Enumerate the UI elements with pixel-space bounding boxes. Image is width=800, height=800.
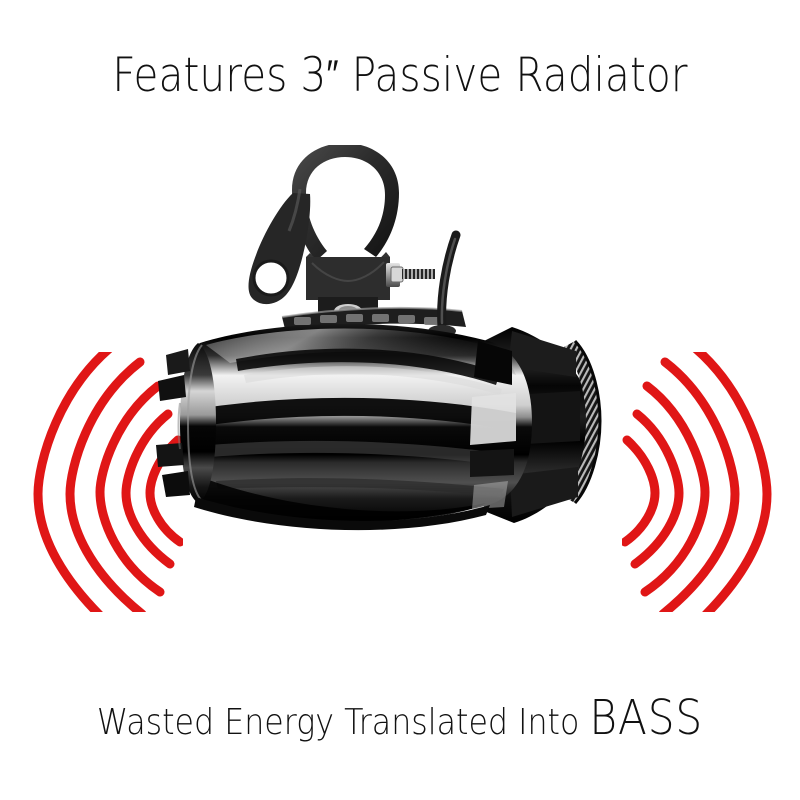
footer-emphasis-text: BASS — [589, 690, 703, 746]
speaker-enclosure — [156, 324, 620, 530]
handlebar-clamp-bracket — [249, 145, 466, 333]
clamp-bolt — [386, 263, 435, 287]
product-photo — [140, 145, 660, 655]
inch-mark: ″ — [326, 52, 338, 98]
speaker-illustration — [140, 145, 660, 655]
footer-lead-text: Wasted Energy Translated Into — [97, 702, 590, 743]
headline-before-inch: Features 3 — [112, 48, 326, 103]
clamp-saddle — [306, 252, 390, 300]
headline-text: Features 3″ Passive Radiator — [56, 52, 744, 99]
footer-text: Wasted Energy Translated Into BASS — [48, 694, 752, 742]
quick-release-lever — [249, 189, 311, 304]
promo-image-canvas: Features 3″ Passive Radiator — [0, 0, 800, 800]
front-bezel — [156, 343, 216, 503]
headline-after-inch: Passive Radiator — [339, 48, 688, 103]
